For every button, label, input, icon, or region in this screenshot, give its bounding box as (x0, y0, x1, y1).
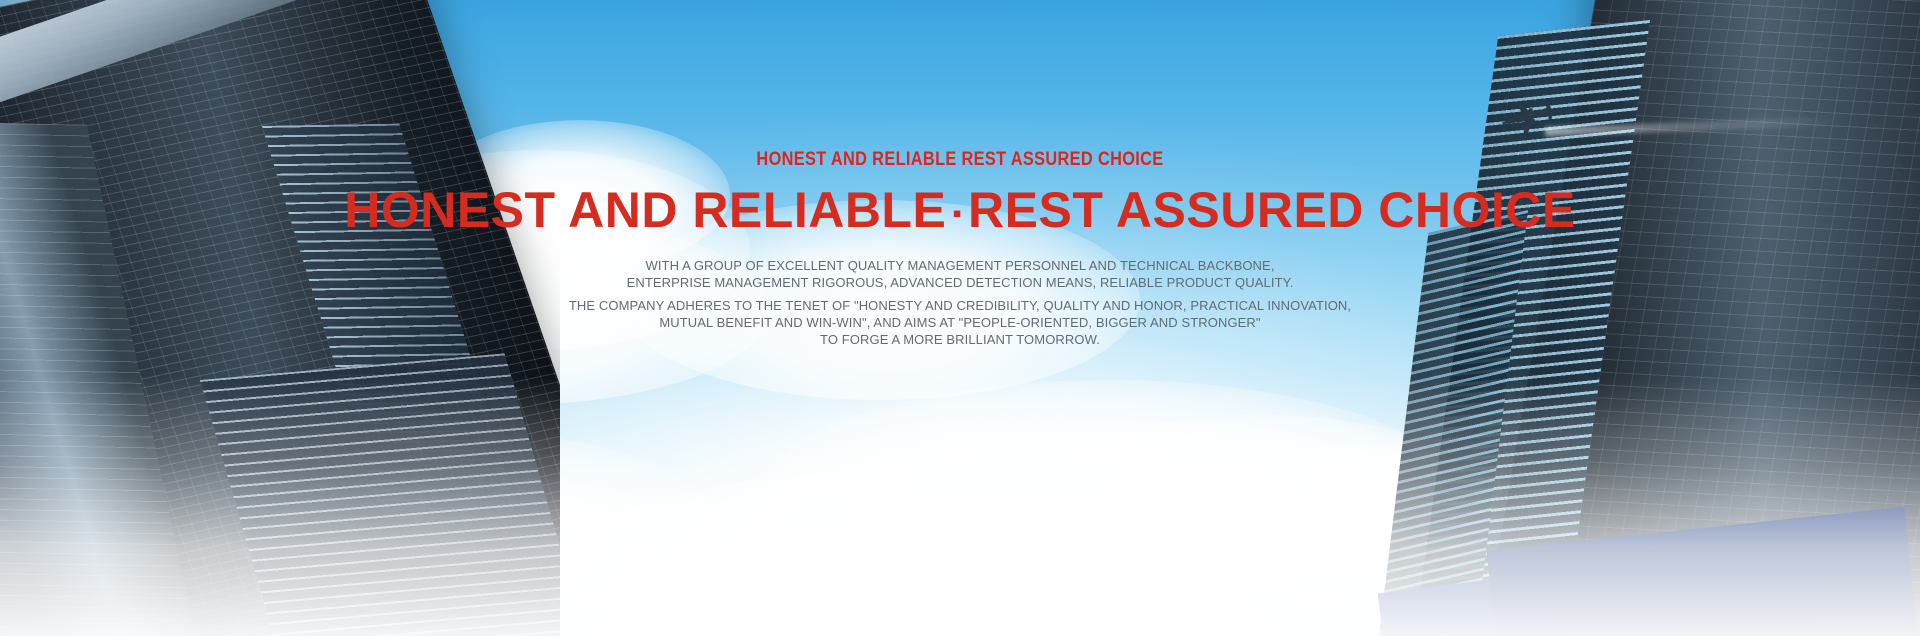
body-line-3: THE COMPANY ADHERES TO THE TENET OF "HON… (0, 297, 1920, 314)
body-line-2: ENTERPRISE MANAGEMENT RIGOROUS, ADVANCED… (0, 274, 1920, 291)
banner-eyebrow: HONEST AND RELIABLE REST ASSURED CHOICE (134, 150, 1785, 169)
banner-headline: HONEST AND RELIABLE▪REST ASSURED CHOICE (0, 185, 1920, 235)
headline-left-text: HONEST AND RELIABLE (344, 182, 946, 238)
banner-text-block: HONEST AND RELIABLE REST ASSURED CHOICE … (0, 150, 1920, 348)
body-line-1: WITH A GROUP OF EXCELLENT QUALITY MANAGE… (0, 257, 1920, 274)
banner-body-copy: WITH A GROUP OF EXCELLENT QUALITY MANAGE… (0, 257, 1920, 348)
body-line-4: MUTUAL BENEFIT AND WIN-WIN", AND AIMS AT… (0, 314, 1920, 331)
headline-separator-icon: ▪ (946, 198, 968, 228)
headline-right-text: REST ASSURED CHOICE (968, 182, 1576, 238)
hero-banner: HONEST AND RELIABLE REST ASSURED CHOICE … (0, 0, 1920, 636)
body-line-5: TO FORGE A MORE BRILLIANT TOMORROW. (0, 331, 1920, 348)
